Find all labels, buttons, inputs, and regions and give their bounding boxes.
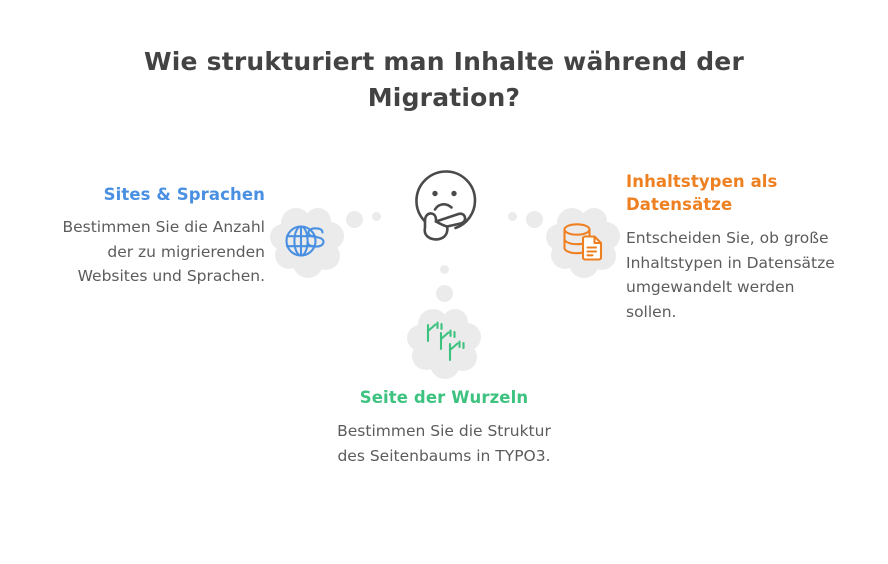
connector-dot-bottom-small — [440, 265, 449, 274]
node-bottom-body: Bestimmen Sie die Struktur des Seitenbau… — [330, 419, 558, 468]
connector-dot-bottom-large — [436, 285, 453, 302]
node-bottom-heading: Seite der Wurzeln — [330, 386, 558, 409]
node-right: Inhaltstypen als Datensätze Entscheiden … — [626, 170, 848, 324]
page-title-line-2: Migration? — [114, 80, 774, 116]
page-title: Wie strukturiert man Inhalte während der… — [114, 44, 774, 116]
connector-dot-left-large — [346, 211, 363, 228]
connector-dot-right-large — [526, 211, 543, 228]
connector-dot-right-small — [508, 212, 517, 221]
node-left-body: Bestimmen Sie die Anzahl der zu migriere… — [52, 215, 265, 289]
connector-dot-left-small — [372, 212, 381, 221]
page-title-line-1: Wie strukturiert man Inhalte während der — [114, 44, 774, 80]
database-document-icon — [544, 202, 622, 280]
node-right-body: Entscheiden Sie, ob große Inhaltstypen i… — [626, 226, 848, 324]
node-left: Sites & Sprachen Bestimmen Sie die Anzah… — [52, 183, 265, 289]
globe-language-icon — [268, 202, 346, 280]
sprout-roots-icon — [405, 303, 483, 381]
node-bottom: Seite der Wurzeln Bestimmen Sie die Stru… — [330, 386, 558, 468]
node-right-heading: Inhaltstypen als Datensätze — [626, 170, 848, 216]
infographic-canvas: Wie strukturiert man Inhalte während der… — [0, 0, 888, 564]
node-left-heading: Sites & Sprachen — [52, 183, 265, 206]
thinking-face-icon — [401, 161, 489, 249]
